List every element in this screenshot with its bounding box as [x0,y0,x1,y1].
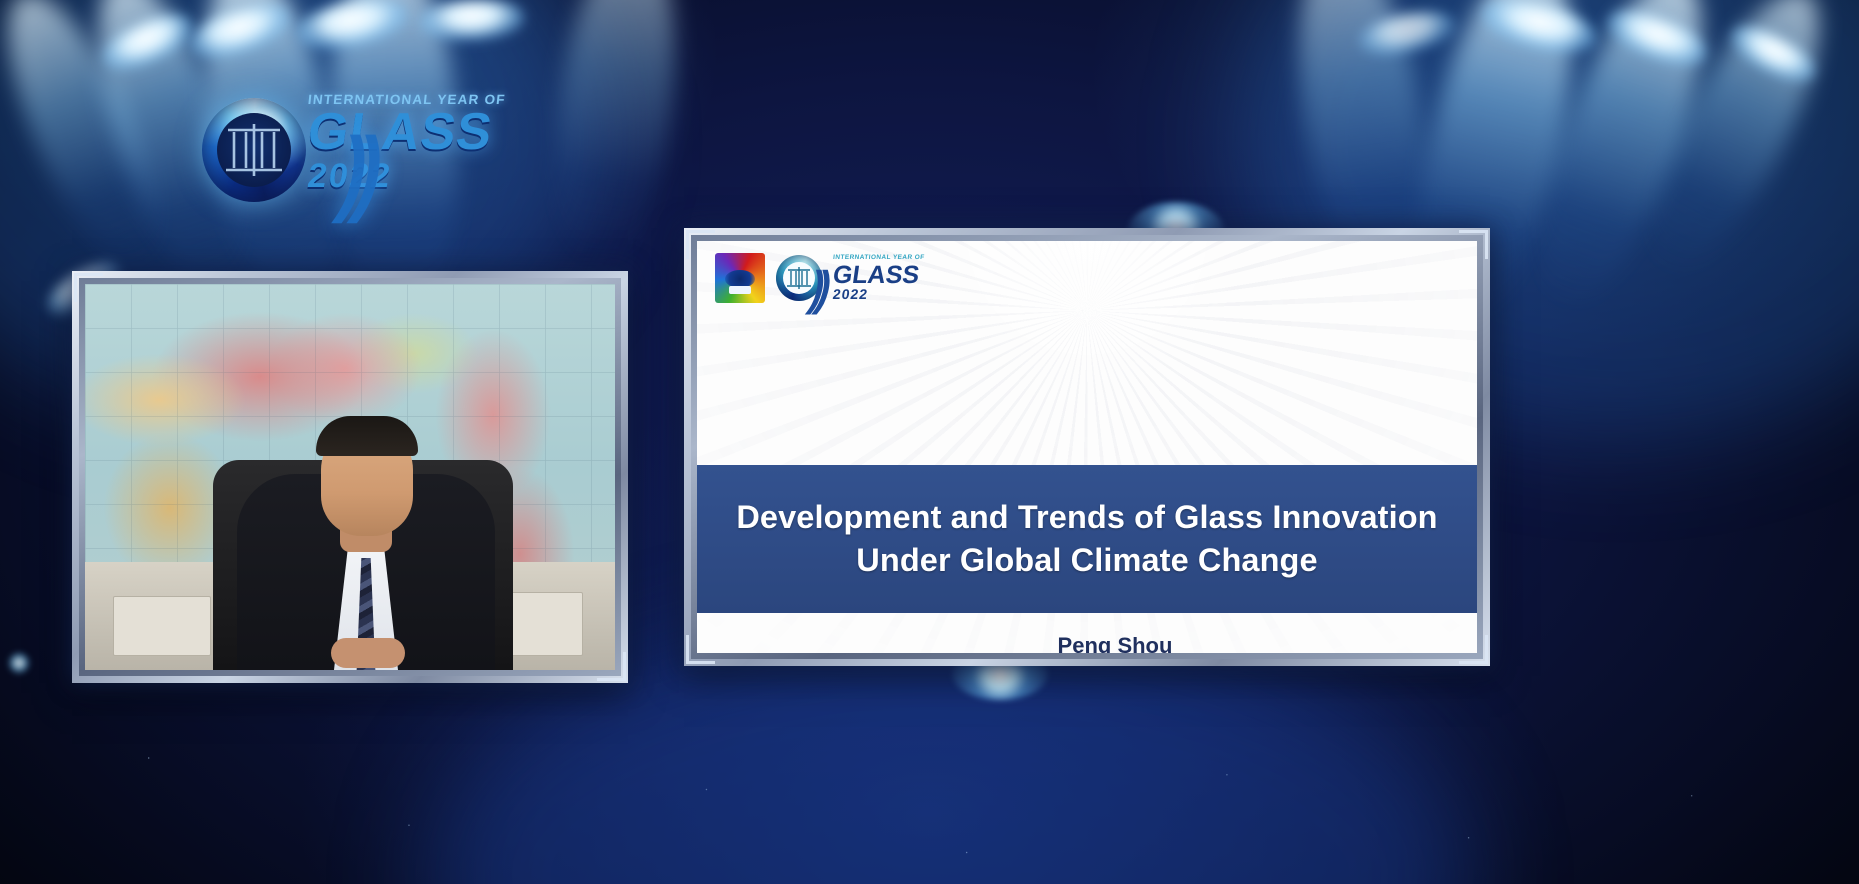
slide-logo-wordmark: GLASS [831,263,926,288]
slide-title-band: Development and Trends of Glass Innovati… [697,465,1477,613]
broadcast-stage: INTERNATIONAL YEAR OF GLASS 2022 )) [0,0,1859,884]
unesco-temple-icon [224,122,284,178]
slide-title-line-2: Under Global Climate Change [856,539,1317,582]
spotlight-lamp-1 [96,4,200,80]
international-year-of-glass-logo: INTERNATIONAL YEAR OF GLASS 2022 )) [196,86,496,211]
presentation-slide-panel: INTERNATIONAL YEAR OF GLASS 2022 )) Deve… [684,228,1490,666]
spotlight-beam-8 [1508,0,1734,327]
iyog-year: 2022 [305,157,500,196]
desk-object-left [113,596,211,656]
spotlight-lamp-7 [1477,0,1600,61]
spotlight-beam-9 [1620,0,1851,294]
unesco-temple-icon [787,267,811,289]
speaker-hands [331,638,405,668]
slide-logo-year: 2022 [832,287,925,301]
spotlight-beam-1 [0,0,189,289]
spotlight-beam-5 [540,0,691,276]
floor-glow-dot-left [8,652,30,674]
slide-glass-wordmark-group: INTERNATIONAL YEAR OF GLASS 2022 [833,255,924,301]
spotlight-lamp-9 [1724,17,1822,92]
speaker-video-feed[interactable] [85,284,615,670]
spotlight-lamp-2 [184,0,296,67]
spotlight-lamp-8 [1601,1,1712,76]
slide-speaker-name: Peng Shou [697,633,1477,653]
slide-title-line-1: Development and Trends of Glass Innovati… [736,496,1437,539]
speaker-video-panel [72,271,628,683]
floor-sparkle-layer [0,674,1859,884]
slide-content[interactable]: INTERNATIONAL YEAR OF GLASS 2022 )) Deve… [697,241,1477,653]
slide-top-flare [922,241,1252,401]
prism-rainbow-logo-icon [715,253,765,303]
spotlight-lamp-6 [1356,4,1458,61]
slide-logo-row: INTERNATIONAL YEAR OF GLASS 2022 )) [715,253,924,303]
speaker-hair [316,416,418,456]
spotlight-lamp-3 [293,0,411,56]
iyog-wordmark: GLASS [305,109,502,157]
spotlight-lamp-4 [419,0,525,43]
